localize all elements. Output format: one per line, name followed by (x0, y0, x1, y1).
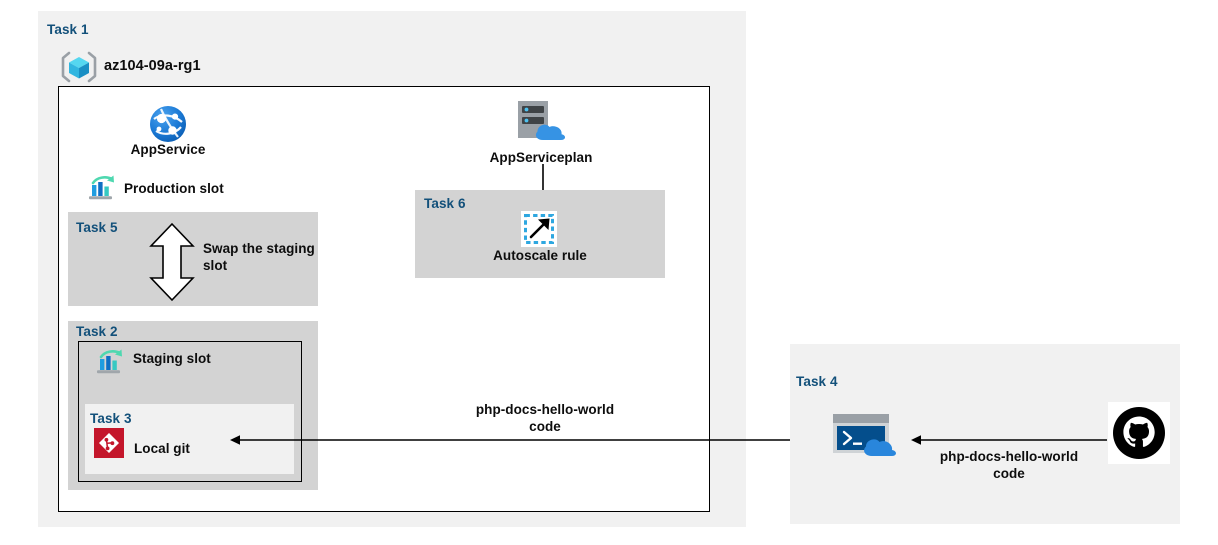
task2-label: Task 2 (76, 324, 118, 339)
diagram-canvas: Task 1 az104-09a-rg1 (0, 0, 1218, 545)
task5-action-label: Swap the staging slot (203, 240, 315, 275)
task4-label: Task 4 (796, 374, 838, 389)
autoscale-icon (521, 211, 557, 247)
deployment-slot-icon-production (87, 174, 117, 202)
app-service-icon (148, 104, 188, 144)
cloudshell-to-localgit-label: php-docs-hello-world code (455, 401, 635, 436)
task5-action-line1: Swap the staging slot (203, 241, 315, 273)
cloud-shell-icon (831, 412, 903, 462)
resource-group-icon (60, 50, 98, 84)
github-connection-label-line1: php-docs-hello-world (940, 449, 1078, 464)
resource-group-name: az104-09a-rg1 (104, 58, 201, 74)
deployment-slot-icon-staging (95, 348, 125, 376)
app-service-plan-label: AppServiceplan (450, 150, 632, 165)
task1-label: Task 1 (47, 22, 89, 37)
github-connection-label-line2: code (993, 466, 1025, 481)
task6-label: Task 6 (424, 196, 466, 211)
task5-label: Task 5 (76, 220, 118, 235)
connection-label-line1: php-docs-hello-world (476, 402, 614, 417)
github-to-cloudshell-label: php-docs-hello-world code (920, 448, 1098, 483)
local-git-label: Local git (134, 441, 190, 456)
app-service-plan-icon (512, 98, 570, 146)
github-icon (1108, 402, 1170, 464)
swap-double-arrow-icon (148, 222, 196, 302)
git-icon (94, 428, 124, 458)
app-service-label: AppService (88, 142, 248, 157)
autoscale-rule-label: Autoscale rule (452, 248, 628, 263)
staging-slot-label: Staging slot (133, 351, 211, 366)
task3-label: Task 3 (90, 411, 132, 426)
arrow-github-to-cloudshell (911, 432, 1107, 448)
arrow-cloudshell-to-localgit (230, 432, 816, 448)
production-slot-label: Production slot (124, 181, 224, 196)
